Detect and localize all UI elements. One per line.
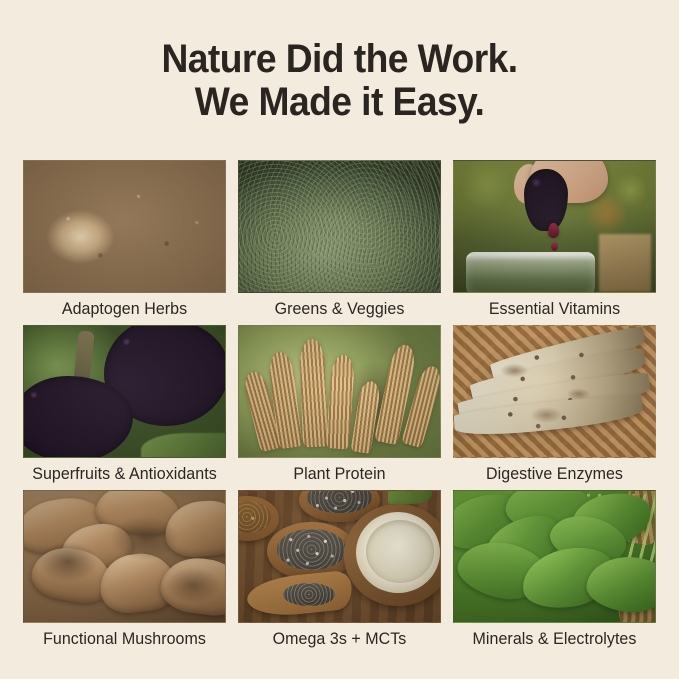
grid-item-caption: Plant Protein <box>241 458 438 490</box>
acai-berries-photo <box>23 325 226 458</box>
spinach-leaves-photo <box>453 490 656 623</box>
grid-item-caption: Minerals & Electrolytes <box>456 623 653 655</box>
page-title: Nature Did the Work. We Made it Easy. <box>24 38 655 124</box>
grid-item: Adaptogen Herbs <box>23 160 226 325</box>
grid-item-caption: Superfruits & Antioxidants <box>26 458 223 490</box>
grid-item: Minerals & Electrolytes <box>453 490 656 655</box>
grid-item: Greens & Veggies <box>238 160 441 325</box>
grid-item: Functional Mushrooms <box>23 490 226 655</box>
blackberry-juice-photo <box>453 160 656 293</box>
texture-overlay <box>24 161 225 292</box>
texture-overlay <box>24 491 225 622</box>
headline-line-1: Nature Did the Work. <box>24 38 655 81</box>
grid-item-caption: Adaptogen Herbs <box>26 293 223 325</box>
coconut-water <box>366 520 434 583</box>
leaf <box>388 490 432 504</box>
blackberry <box>524 169 568 231</box>
leaf <box>141 433 226 458</box>
grid-item-caption: Functional Mushrooms <box>26 623 223 655</box>
background-jar <box>599 234 651 292</box>
texture-overlay <box>239 161 440 292</box>
green-powder-photo <box>238 160 441 293</box>
grid-item-caption: Omega 3s + MCTs <box>241 623 438 655</box>
maitake-mushrooms-photo <box>23 490 226 623</box>
chia-seeds-coconut-photo <box>238 490 441 623</box>
grid-item: Omega 3s + MCTs <box>238 490 441 655</box>
grid-item: Plant Protein <box>238 325 441 490</box>
ingredient-grid: Adaptogen Herbs Greens & Veggies Essenti… <box>23 160 656 655</box>
grid-item: Essential Vitamins <box>453 160 656 325</box>
grid-item-caption: Digestive Enzymes <box>456 458 653 490</box>
grid-item: Digestive Enzymes <box>453 325 656 490</box>
daikon-radish-basket-photo <box>453 325 656 458</box>
headline-line-2: We Made it Easy. <box>24 81 655 124</box>
grid-item: Superfruits & Antioxidants <box>23 325 226 490</box>
drinking-glass <box>466 252 595 293</box>
adaptogen-herbs-photo <box>23 160 226 293</box>
amaranth-seed-heads-photo <box>238 325 441 458</box>
chia-seed-fill <box>277 529 345 570</box>
grid-item-caption: Greens & Veggies <box>241 293 438 325</box>
seed-spike <box>299 339 328 448</box>
grid-item-caption: Essential Vitamins <box>456 293 653 325</box>
texture-overlay <box>454 326 655 457</box>
ingredient-benefits-poster: Nature Did the Work. We Made it Easy. Ad… <box>0 0 679 679</box>
